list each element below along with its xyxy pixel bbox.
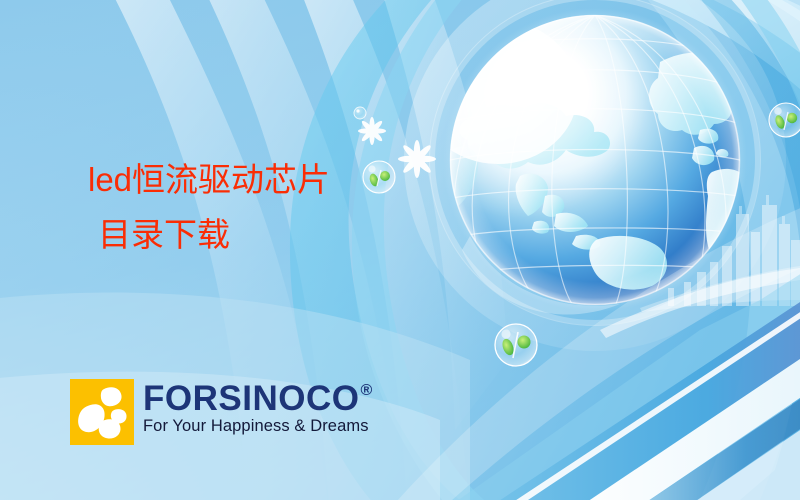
registered-trademark-symbol: ® — [360, 383, 372, 399]
headline-text: led恒流驱动芯片 目录下载 — [88, 163, 330, 251]
pinwheel-petals — [78, 386, 126, 439]
brand-tagline: For Your Happiness & Dreams — [143, 417, 369, 436]
poster-canvas: led恒流驱动芯片 目录下载 FORSINOCO ® — [0, 0, 800, 500]
brand-logo-lockup[interactable]: FORSINOCO ® For Your Happiness & Dreams — [70, 379, 372, 445]
brand-name: FORSINOCO — [143, 382, 359, 415]
brand-text-block: FORSINOCO ® For Your Happiness & Dreams — [143, 382, 372, 436]
brand-name-row: FORSINOCO ® — [143, 382, 372, 415]
headline-line-2: 目录下载 — [98, 218, 330, 251]
forsinoco-pinwheel-mark — [70, 379, 134, 445]
headline-line-1: led恒流驱动芯片 — [88, 163, 330, 196]
